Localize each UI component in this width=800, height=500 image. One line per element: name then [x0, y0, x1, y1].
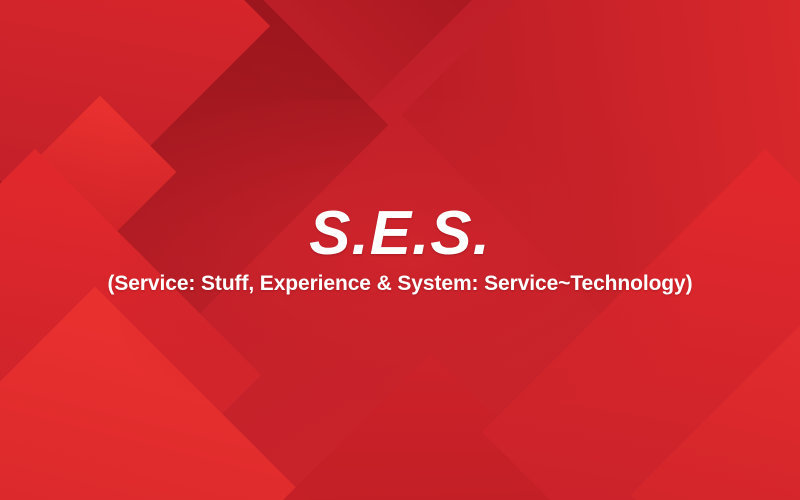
banner-text-block: S.E.S. (Service: Stuff, Experience & Sys… — [0, 0, 800, 500]
page-subtitle: (Service: Stuff, Experience & System: Se… — [107, 271, 692, 296]
page-title: S.E.S. — [309, 203, 491, 265]
ses-banner: S.E.S. (Service: Stuff, Experience & Sys… — [0, 0, 800, 500]
